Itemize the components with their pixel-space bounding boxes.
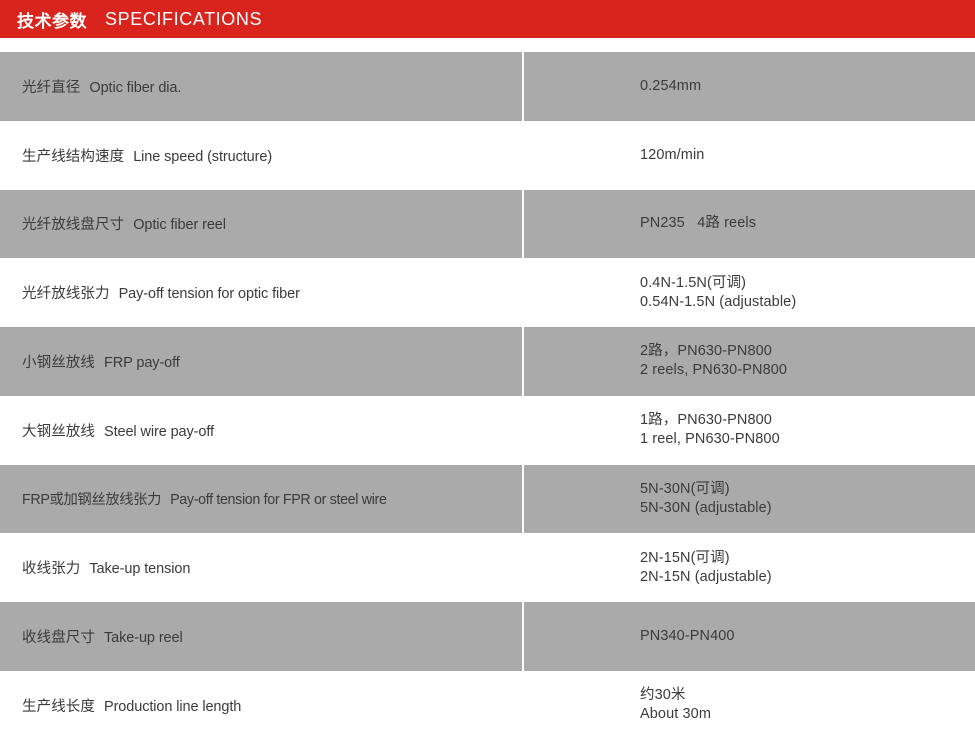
row-value-secondary: 0.54N-1.5N (adjustable) [640, 293, 965, 312]
row-label-chinese: 大钢丝放线 [22, 420, 95, 441]
table-row: FRP或加钢丝放线张力Pay-off tension for FPR or st… [0, 465, 975, 534]
row-label-line: 光纤放线张力Pay-off tension for optic fiber [22, 282, 512, 303]
row-label-line: 大钢丝放线Steel wire pay-off [22, 420, 512, 441]
row-label-line: 光纤放线盘尺寸Optic fiber reel [22, 213, 512, 234]
row-value-primary: 1路，PN630-PN800 [640, 411, 965, 430]
row-label-english: Line speed (structure) [133, 149, 272, 165]
row-label-line: 收线盘尺寸Take-up reel [22, 626, 512, 647]
row-value-primary: PN235 4路 reels [640, 214, 965, 233]
row-label-cell: 大钢丝放线Steel wire pay-off [0, 396, 522, 465]
row-label-line: FRP或加钢丝放线张力Pay-off tension for FPR or st… [22, 488, 512, 509]
table-row: 生产线结构速度Line speed (structure)120m/min [0, 121, 975, 190]
row-value-cell: 5N-30N(可调)5N-30N (adjustable) [524, 465, 975, 534]
row-value-secondary: 2 reels, PN630-PN800 [640, 361, 965, 380]
row-value-cell: PN235 4路 reels [524, 190, 975, 259]
row-label-chinese: 光纤放线张力 [22, 282, 110, 303]
row-label-chinese: 收线张力 [22, 557, 80, 578]
table-row: 光纤放线张力Pay-off tension for optic fiber0.4… [0, 258, 975, 327]
specifications-header-bar: 技术参数 SPECIFICATIONS [0, 0, 975, 38]
row-value-primary: 2路，PN630-PN800 [640, 342, 965, 361]
row-value-cell: 约30米About 30m [524, 671, 975, 740]
row-label-english: Optic fiber reel [133, 217, 226, 233]
table-row: 光纤直径Optic fiber dia.0.254mm [0, 52, 975, 121]
row-label-cell: 收线张力Take-up tension [0, 533, 522, 602]
row-label-chinese: 光纤直径 [22, 76, 80, 97]
row-value-cell: 0.4N-1.5N(可调)0.54N-1.5N (adjustable) [524, 258, 975, 327]
row-value-primary: 5N-30N(可调) [640, 480, 965, 499]
row-label-cell: 光纤直径Optic fiber dia. [0, 52, 522, 121]
row-label-english: Optic fiber dia. [89, 80, 181, 96]
row-value-cell: 120m/min [524, 121, 975, 190]
row-label-line: 生产线结构速度Line speed (structure) [22, 145, 512, 166]
row-value-primary: 约30米 [640, 686, 965, 705]
row-value-cell: 1路，PN630-PN8001 reel, PN630-PN800 [524, 396, 975, 465]
table-row: 光纤放线盘尺寸Optic fiber reelPN235 4路 reels [0, 190, 975, 259]
row-value-primary: PN340-PN400 [640, 627, 965, 646]
row-label-english: Production line length [104, 699, 241, 715]
row-label-cell: 小钢丝放线FRP pay-off [0, 327, 522, 396]
row-value-secondary: About 30m [640, 705, 965, 724]
row-value-secondary: 1 reel, PN630-PN800 [640, 430, 965, 449]
row-value-secondary: 5N-30N (adjustable) [640, 499, 965, 518]
row-label-chinese: FRP或加钢丝放线张力 [22, 488, 161, 509]
row-value-primary: 120m/min [640, 146, 965, 165]
row-label-line: 收线张力Take-up tension [22, 557, 512, 578]
row-label-chinese: 生产线长度 [22, 695, 95, 716]
row-label-english: Take-up reel [104, 630, 183, 646]
table-row: 收线盘尺寸Take-up reelPN340-PN400 [0, 602, 975, 671]
row-value-cell: 0.254mm [524, 52, 975, 121]
row-label-english: Steel wire pay-off [104, 424, 214, 440]
specifications-table: 光纤直径Optic fiber dia.0.254mm生产线结构速度Line s… [0, 52, 975, 740]
row-label-cell: 生产线结构速度Line speed (structure) [0, 121, 522, 190]
header-title-english: SPECIFICATIONS [105, 9, 262, 30]
table-row: 收线张力Take-up tension2N-15N(可调)2N-15N (adj… [0, 533, 975, 602]
specifications-sheet: 技术参数 SPECIFICATIONS 光纤直径Optic fiber dia.… [0, 0, 975, 754]
table-row: 大钢丝放线Steel wire pay-off1路，PN630-PN8001 r… [0, 396, 975, 465]
row-label-cell: 光纤放线盘尺寸Optic fiber reel [0, 190, 522, 259]
header-title-chinese: 技术参数 [17, 7, 87, 32]
row-label-line: 光纤直径Optic fiber dia. [22, 76, 512, 97]
row-value-secondary: 2N-15N (adjustable) [640, 568, 965, 587]
row-label-chinese: 收线盘尺寸 [22, 626, 95, 647]
row-value-cell: 2路，PN630-PN8002 reels, PN630-PN800 [524, 327, 975, 396]
row-value-cell: 2N-15N(可调)2N-15N (adjustable) [524, 533, 975, 602]
row-label-cell: 生产线长度Production line length [0, 671, 522, 740]
row-label-english: Take-up tension [89, 561, 190, 577]
row-label-cell: 光纤放线张力Pay-off tension for optic fiber [0, 258, 522, 327]
row-value-primary: 2N-15N(可调) [640, 549, 965, 568]
row-label-english: Pay-off tension for optic fiber [119, 286, 300, 302]
row-value-primary: 0.4N-1.5N(可调) [640, 274, 965, 293]
table-row: 生产线长度Production line length约30米About 30m [0, 671, 975, 740]
row-label-cell: FRP或加钢丝放线张力Pay-off tension for FPR or st… [0, 465, 522, 534]
row-label-english: Pay-off tension for FPR or steel wire [170, 492, 386, 508]
row-label-line: 生产线长度Production line length [22, 695, 512, 716]
row-label-cell: 收线盘尺寸Take-up reel [0, 602, 522, 671]
row-label-chinese: 小钢丝放线 [22, 351, 95, 372]
row-label-line: 小钢丝放线FRP pay-off [22, 351, 512, 372]
row-label-english: FRP pay-off [104, 355, 180, 371]
row-value-cell: PN340-PN400 [524, 602, 975, 671]
table-row: 小钢丝放线FRP pay-off2路，PN630-PN8002 reels, P… [0, 327, 975, 396]
row-label-chinese: 生产线结构速度 [22, 145, 124, 166]
row-label-chinese: 光纤放线盘尺寸 [22, 213, 124, 234]
row-value-primary: 0.254mm [640, 77, 965, 96]
